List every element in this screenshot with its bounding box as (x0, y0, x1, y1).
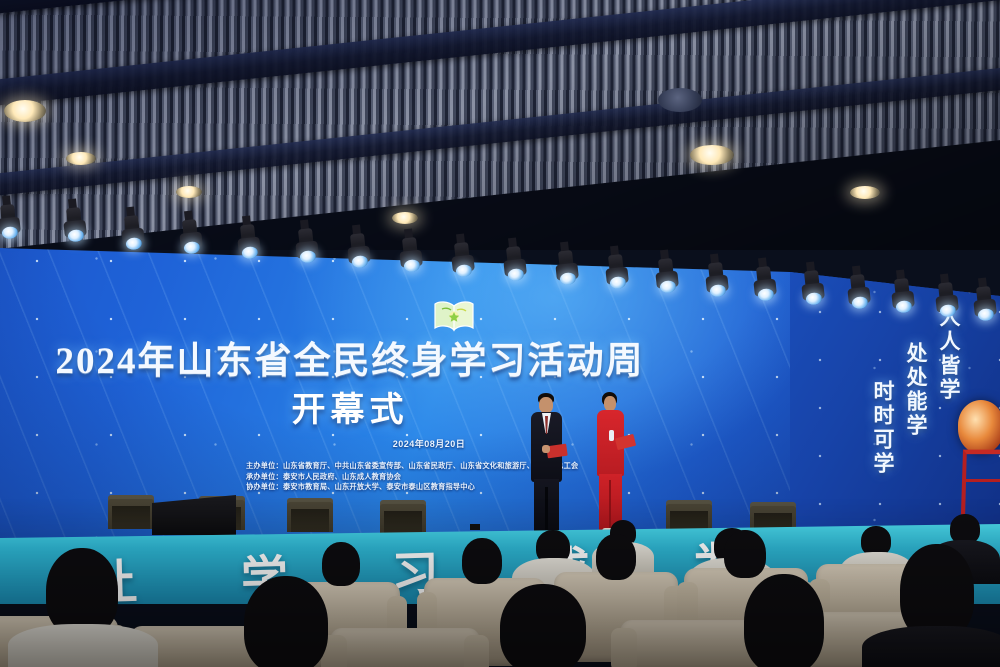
audience-area (0, 500, 1000, 667)
audience-head (462, 538, 502, 584)
microphone-icon (609, 430, 614, 441)
recessed-downlight-icon (850, 186, 880, 199)
recessed-downlight-icon (176, 186, 202, 198)
recessed-downlight-icon (658, 88, 702, 112)
event-title: 2024年山东省全民终身学习活动周 (0, 330, 700, 384)
event-photo-scene: 2024年山东省全民终身学习活动周 开幕式 2024年08月20日 主办单位：山… (0, 0, 1000, 667)
audience-head (46, 548, 118, 636)
audience-head (724, 530, 766, 578)
lighting-truss (0, 200, 1000, 310)
conference-armchair (330, 628, 480, 667)
audience-head (500, 584, 586, 667)
audience-head (244, 576, 328, 667)
audience-shoulders (8, 624, 158, 667)
audience-head (322, 542, 360, 586)
audience-head (744, 574, 824, 667)
audience-head (596, 534, 636, 580)
drum-head (958, 400, 1000, 454)
slogan-column-2: 处处能学 (901, 342, 931, 476)
recessed-downlight-icon (4, 100, 46, 122)
slogan-column-3: 时时可学 (868, 380, 898, 476)
audience-shoulders (862, 626, 1000, 667)
ceremonial-drum (952, 400, 1000, 510)
event-date: 2024年08月20日 (0, 437, 858, 450)
recessed-downlight-icon (690, 145, 734, 165)
recessed-downlight-icon (66, 152, 96, 165)
host-head (604, 396, 616, 411)
host-hand (542, 445, 550, 453)
vertical-slogan: 人人皆学 处处能学 时时可学 (868, 306, 964, 476)
host-head (539, 397, 553, 413)
